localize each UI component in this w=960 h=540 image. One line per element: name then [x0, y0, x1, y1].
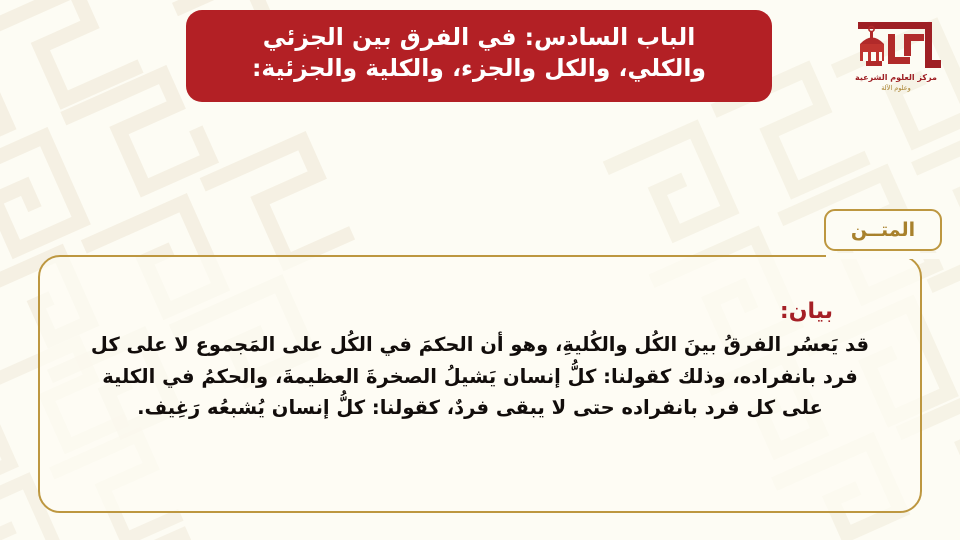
- page-title-line2: والكلي، والكل والجزء، والكلية والجزئية:: [252, 54, 706, 82]
- logo-subtitle-line1: مركز العلوم الشرعية: [855, 73, 937, 82]
- body-paragraph: قد يَعسُر الفرقُ بينَ الكُل والكُليةِ، و…: [72, 329, 888, 424]
- matn-content: بيان: قد يَعسُر الفرقُ بينَ الكُل والكُل…: [38, 255, 922, 513]
- logo-subtitle-line2: وعلوم الآلة: [881, 83, 911, 92]
- brand-logo: مركز العلوم الشرعية وعلوم الآلة: [844, 14, 948, 96]
- tab-matn-label: المتــن: [851, 219, 915, 241]
- title-banner: الباب السادس: في الفرق بين الجزئي والكلي…: [186, 10, 772, 102]
- page-title: الباب السادس: في الفرق بين الجزئي والكلي…: [252, 22, 706, 84]
- mosque-dome-icon: [860, 26, 884, 61]
- tab-matn[interactable]: المتــن: [824, 209, 942, 251]
- slide-canvas: الباب السادس: في الفرق بين الجزئي والكلي…: [0, 0, 960, 540]
- section-heading: بيان:: [72, 299, 888, 324]
- page-title-line1: الباب السادس: في الفرق بين الجزئي: [263, 23, 696, 51]
